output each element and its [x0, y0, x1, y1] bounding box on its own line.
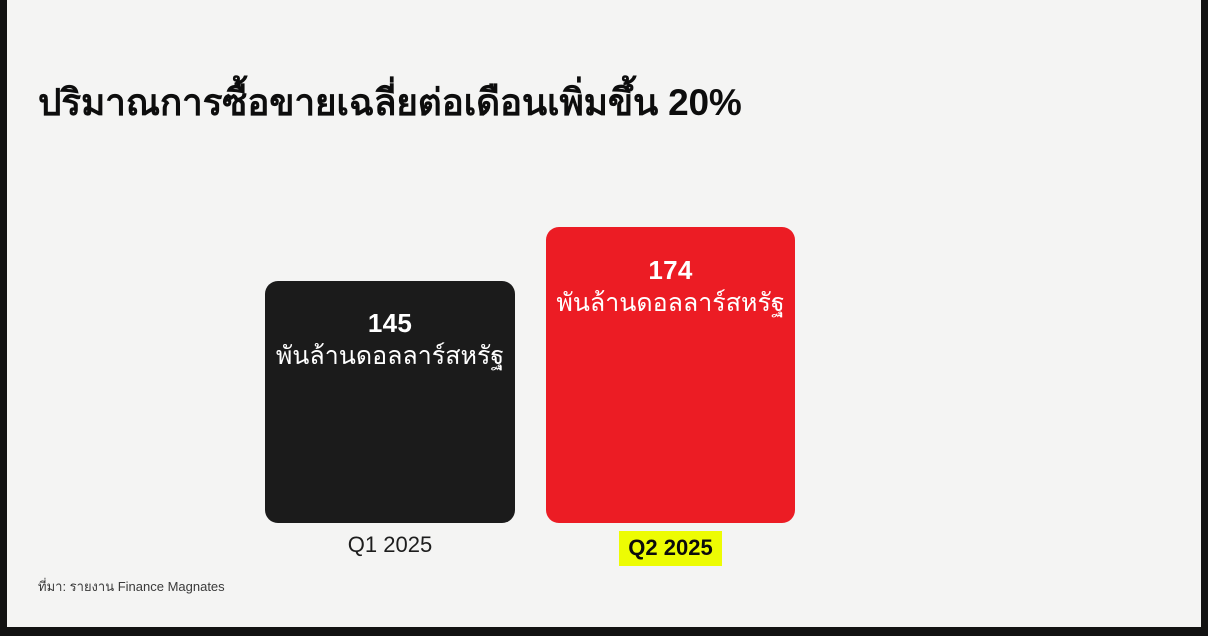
- bar-q2-unit: พันล้านดอลลาร์สหรัฐ: [546, 287, 795, 319]
- axis-label-q2: Q2 2025: [546, 531, 795, 566]
- bar-q2-label-group: 174 พันล้านดอลลาร์สหรัฐ: [546, 255, 795, 319]
- bar-q2-value: 174: [546, 255, 795, 286]
- slide-canvas: ปริมาณการซื้อขายเฉลี่ยต่อเดือนเพิ่มขึ้น …: [0, 0, 1208, 636]
- bar-q1-2025[interactable]: 145 พันล้านดอลลาร์สหรัฐ: [265, 281, 515, 523]
- source-note: ที่มา: รายงาน Finance Magnates: [38, 578, 225, 596]
- bar-q1-value: 145: [265, 308, 515, 339]
- bar-chart: 145 พันล้านดอลลาร์สหรัฐ 174 พันล้านดอลลา…: [7, 0, 1201, 620]
- bar-q1-label-group: 145 พันล้านดอลลาร์สหรัฐ: [265, 308, 515, 372]
- axis-label-q2-highlight: Q2 2025: [619, 531, 721, 566]
- bar-q2-2025[interactable]: 174 พันล้านดอลลาร์สหรัฐ: [546, 227, 795, 523]
- bar-q1-unit: พันล้านดอลลาร์สหรัฐ: [265, 340, 515, 372]
- axis-label-q1: Q1 2025: [265, 531, 515, 559]
